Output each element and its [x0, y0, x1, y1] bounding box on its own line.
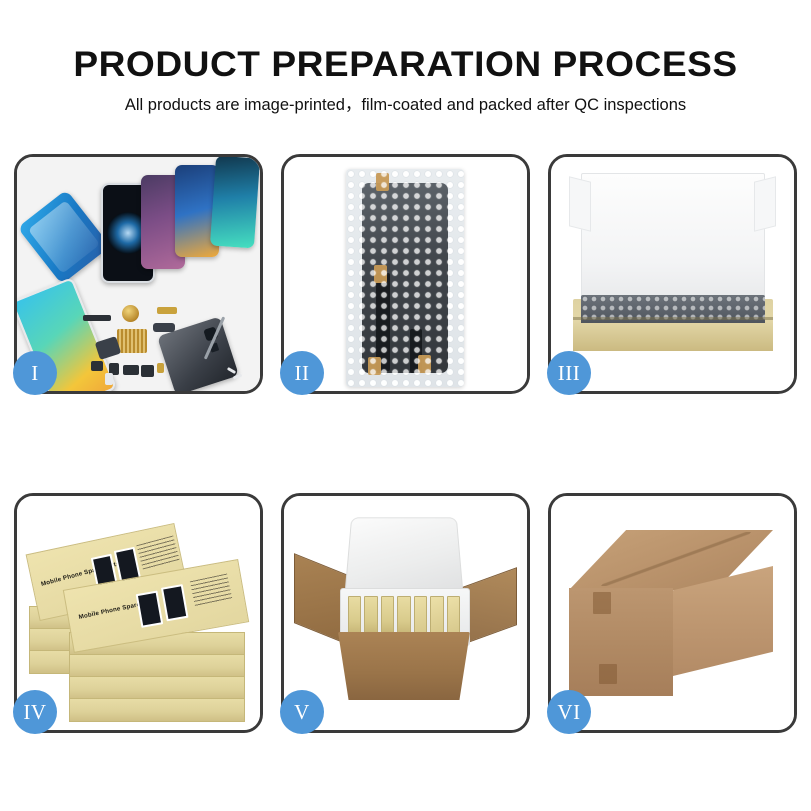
tape-top	[376, 173, 389, 191]
part-chip-grid	[117, 329, 147, 353]
process-step-panel-4[interactable]: Mobile Phone Spare Parts Mobile Phone Sp…	[14, 493, 263, 733]
process-step-panel-5[interactable]: V	[281, 493, 530, 733]
inner-box	[348, 596, 361, 638]
kraft-box-front	[573, 323, 773, 351]
step-badge-6: VI	[547, 690, 591, 734]
part-small-a	[91, 361, 103, 371]
step-1-image	[17, 157, 260, 391]
inner-box	[397, 596, 410, 638]
box-edge-shadow	[573, 317, 773, 320]
kraft-box-front-4	[69, 698, 245, 722]
box-thumb-lower-b	[161, 584, 189, 621]
phone-teal	[210, 157, 260, 248]
inner-boxes-row	[348, 596, 460, 638]
step-2-image	[284, 157, 527, 391]
box-lid-white	[581, 173, 765, 301]
process-step-grid: I II	[14, 154, 797, 764]
carton-tape-upper	[593, 592, 611, 614]
step-3-image	[551, 157, 794, 391]
lid-tab-left	[569, 176, 591, 231]
tape-middle	[374, 265, 387, 283]
page-header: PRODUCT PREPARATION PROCESS All products…	[0, 0, 811, 115]
part-gold-connector	[157, 307, 177, 314]
process-step-panel-6[interactable]: VI	[548, 493, 797, 733]
page-subtitle: All products are image-printed，film-coat…	[0, 86, 811, 115]
tape-bottom-left	[368, 357, 381, 375]
part-gold-small	[157, 363, 164, 373]
box-text-lines-upper	[136, 535, 179, 570]
part-flex-cable-a	[153, 323, 175, 332]
kraft-box-front-3	[69, 676, 245, 700]
box-text-lines-lower	[190, 574, 233, 607]
bubble-wrap-package	[346, 169, 464, 387]
inner-box	[447, 596, 460, 638]
step-badge-1: I	[13, 351, 57, 395]
part-bar	[83, 315, 111, 321]
kraft-box-front-2	[69, 654, 245, 678]
carton-body	[338, 632, 470, 700]
part-sim-tray	[105, 373, 113, 385]
inner-box	[364, 596, 377, 638]
step-badge-5: V	[280, 690, 324, 734]
bubble-wrapped-contents	[581, 295, 765, 325]
process-step-panel-1[interactable]: I	[14, 154, 263, 394]
step-4-image: Mobile Phone Spare Parts Mobile Phone Sp…	[17, 496, 260, 730]
page-title: PRODUCT PREPARATION PROCESS	[0, 0, 811, 86]
lid-tab-right	[754, 176, 776, 231]
step-badge-2: II	[280, 351, 324, 395]
process-step-panel-3[interactable]: III	[548, 154, 797, 394]
carton-tape-lower	[599, 664, 617, 684]
tape-bottom-right	[418, 355, 431, 373]
step-badge-4: IV	[13, 690, 57, 734]
step-6-image	[551, 496, 794, 730]
part-small-c	[123, 365, 139, 375]
inner-box	[381, 596, 394, 638]
part-camera-module	[141, 365, 154, 377]
process-step-panel-2[interactable]: II	[281, 154, 530, 394]
kraft-box-stack: Mobile Phone Spare Parts Mobile Phone Sp…	[25, 514, 251, 722]
inner-box	[430, 596, 443, 638]
foam-lid	[344, 517, 463, 595]
carton-front-face	[569, 588, 673, 696]
part-speaker-coin	[122, 305, 139, 322]
box-thumb-lower-a	[136, 591, 164, 628]
step-5-image	[284, 496, 527, 730]
step-badge-3: III	[547, 351, 591, 395]
inner-box	[414, 596, 427, 638]
